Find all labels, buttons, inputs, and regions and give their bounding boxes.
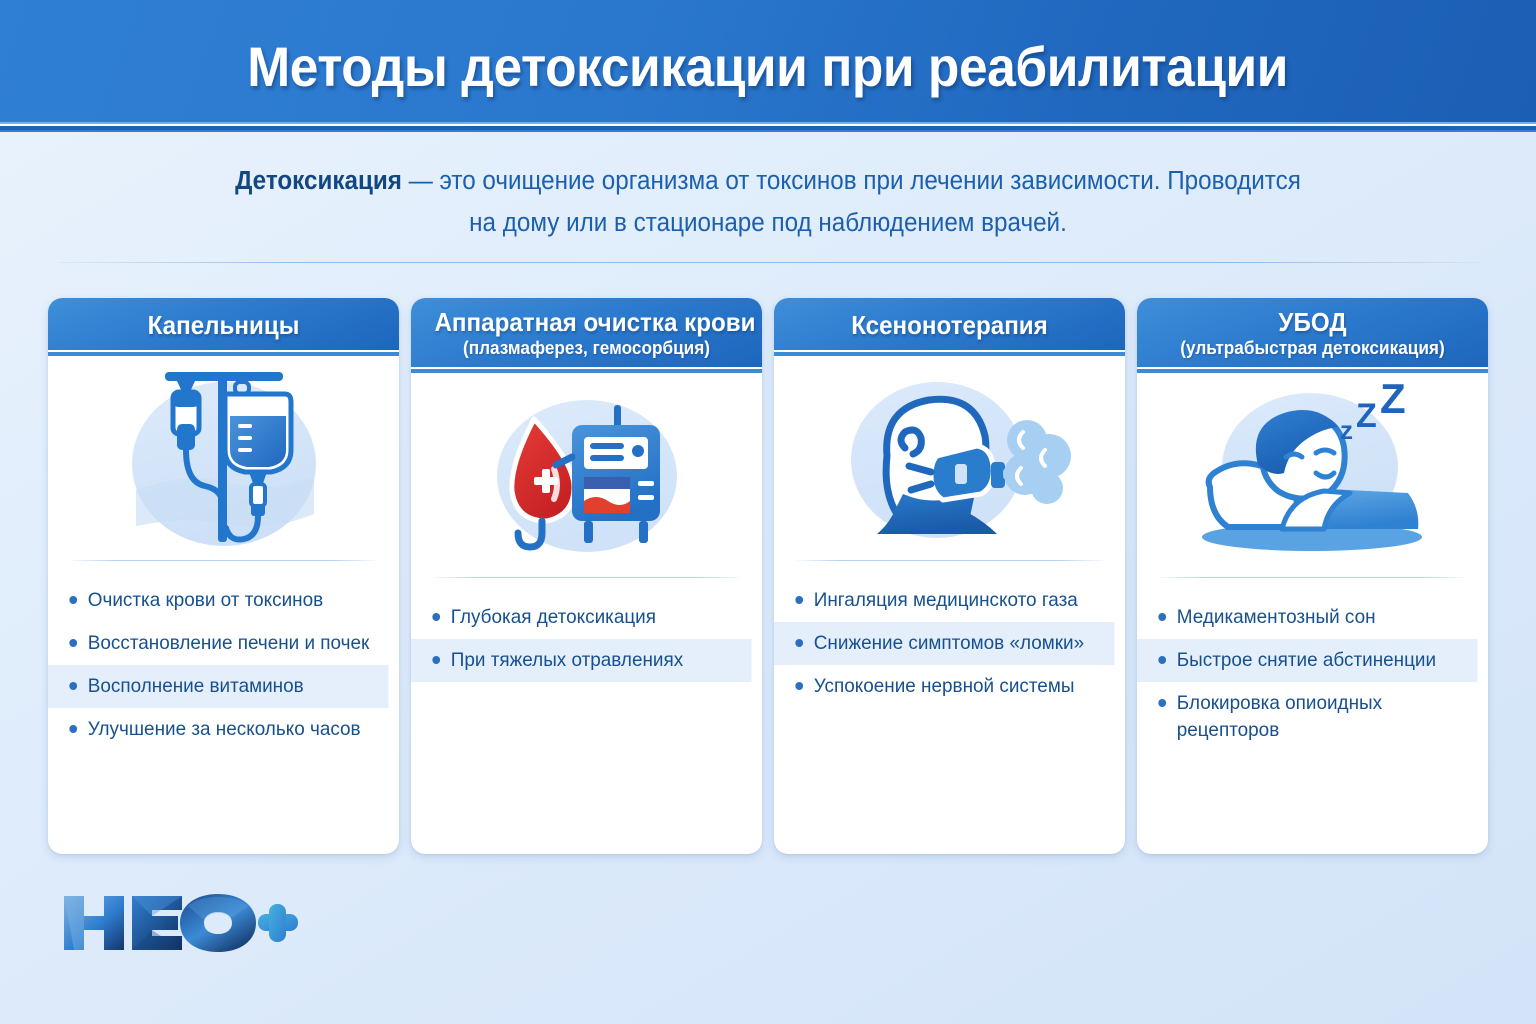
card-subtitle: (плазмаферез, гемосорбция)	[434, 338, 738, 358]
card-header-drip: Капельницы	[48, 298, 399, 350]
bullet-dot-icon	[1158, 699, 1166, 707]
card-header-ubod: УБОД (ультрабыстрая детоксикация)	[1137, 298, 1488, 367]
xenon-mask-icon	[774, 350, 1125, 560]
list-item-label: Глубокая детоксикация	[451, 604, 734, 631]
benefit-list-xenon: Ингаляция медицинското газа Снижение сим…	[774, 561, 1125, 854]
list-item: Медикаментозный сон	[1137, 596, 1477, 639]
list-item-label: Блокировка опиоидных рецепторов	[1177, 690, 1460, 744]
bullet-dot-icon	[69, 725, 77, 733]
bullet-dot-icon	[432, 656, 440, 664]
method-card-apheresis: Аппаратная очистка крови (плазмаферез, г…	[411, 298, 762, 854]
list-item: Снижение симптомов «ломки»	[774, 622, 1114, 665]
section-divider	[58, 262, 1478, 263]
list-item: Успокоение нервной системы	[774, 665, 1114, 708]
list-item: Очистка крови от токсинов	[48, 579, 388, 622]
bullet-dot-icon	[795, 596, 803, 604]
benefit-list-apheresis: Глубокая детоксикация При тяжелых отравл…	[411, 578, 762, 854]
list-item: Восполнение витаминов	[48, 665, 388, 708]
iv-drip-icon	[48, 350, 399, 560]
method-card-xenon: Ксенонотерапия	[774, 298, 1125, 854]
list-item: При тяжелых отравлениях	[411, 639, 751, 682]
bullet-dot-icon	[69, 639, 77, 647]
list-item-label: Медикаментозный сон	[1177, 604, 1460, 631]
list-item: Блокировка опиоидных рецепторов	[1137, 682, 1477, 752]
neo-plus-logo	[60, 888, 300, 960]
list-item-label: Восстановление печени и почек	[88, 630, 371, 657]
card-header-apheresis: Аппаратная очистка крови (плазмаферез, г…	[411, 298, 762, 367]
bullet-dot-icon	[69, 596, 77, 604]
list-item: Быстрое снятие абстиненции	[1137, 639, 1477, 682]
list-item: Ингаляция медицинското газа	[774, 579, 1114, 622]
list-item-label: Снижение симптомов «ломки»	[814, 630, 1097, 657]
card-title: Аппаратная очистка крови	[434, 308, 738, 336]
method-card-ubod: УБОД (ультрабыстрая детоксикация)	[1137, 298, 1488, 854]
method-cards-row: Капельницы	[48, 298, 1488, 854]
card-subtitle: (ультрабыстрая детоксикация)	[1160, 338, 1464, 358]
bullet-dot-icon	[432, 613, 440, 621]
list-item-label: Ингаляция медицинското газа	[814, 587, 1097, 614]
intro-paragraph: Детоксикация — это очищение организма от…	[219, 160, 1317, 244]
list-item: Глубокая детоксикация	[411, 596, 751, 639]
method-card-drip: Капельницы	[48, 298, 399, 854]
svg-text:Z: Z	[1356, 397, 1377, 435]
sleeping-patient-icon: z Z Z	[1137, 367, 1488, 577]
svg-text:z: z	[1340, 415, 1353, 445]
bullet-dot-icon	[795, 639, 803, 647]
blood-purification-icon	[411, 367, 762, 577]
svg-text:Z: Z	[1380, 381, 1406, 422]
list-item: Восстановление печени и почек	[48, 622, 388, 665]
list-item-label: Очистка крови от токсинов	[88, 587, 371, 614]
page-header: Методы детоксикации при реабилитации	[0, 0, 1536, 132]
intro-lead-word: Детоксикация	[235, 167, 402, 195]
list-item: Улучшение за несколько часов	[48, 708, 388, 751]
list-item-label: Успокоение нервной системы	[814, 673, 1097, 700]
page-title: Методы детоксикации при реабилитации	[248, 34, 1289, 99]
list-item-label: Улучшение за несколько часов	[88, 716, 371, 743]
list-item-label: При тяжелых отравлениях	[451, 647, 734, 674]
bullet-dot-icon	[1158, 613, 1166, 621]
benefit-list-drip: Очистка крови от токсинов Восстановление…	[48, 561, 399, 854]
card-title: Ксенонотерапия	[797, 311, 1101, 339]
bullet-dot-icon	[795, 682, 803, 690]
list-item-label: Восполнение витаминов	[88, 673, 371, 700]
card-header-xenon: Ксенонотерапия	[774, 298, 1125, 350]
bullet-dot-icon	[1158, 656, 1166, 664]
list-item-label: Быстрое снятие абстиненции	[1177, 647, 1460, 674]
bullet-dot-icon	[69, 682, 77, 690]
benefit-list-ubod: Медикаментозный сон Быстрое снятие абсти…	[1137, 578, 1488, 854]
card-title: Капельницы	[71, 311, 375, 339]
intro-rest-text: — это очищение организма от токсинов при…	[402, 167, 1301, 237]
card-title: УБОД	[1160, 308, 1464, 336]
